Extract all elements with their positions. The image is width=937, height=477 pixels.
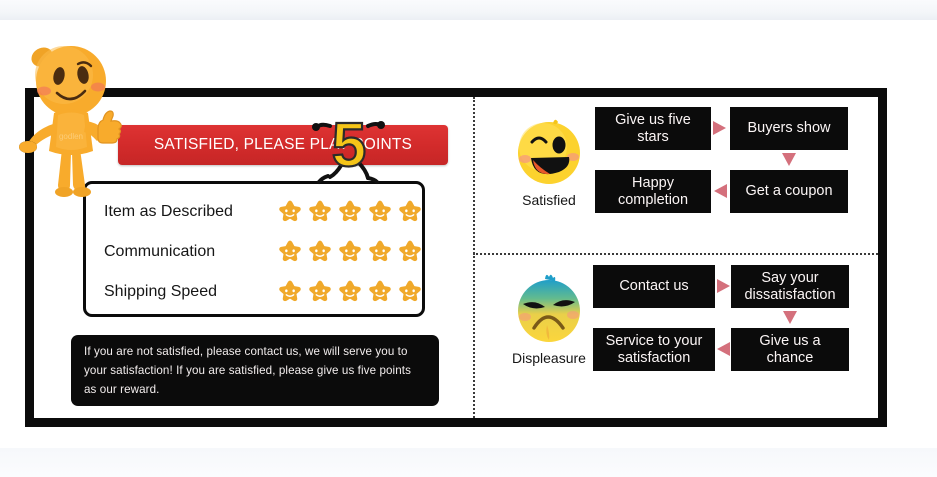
svg-text:godlen: godlen (59, 132, 83, 141)
feedback-note-box: If you are not satisfied, please contact… (71, 335, 439, 406)
smiling-star-icon (277, 239, 303, 265)
flow-step-box[interactable]: Service to your satisfaction (593, 328, 715, 371)
running-five-icon: 5 (312, 104, 386, 186)
banner-five-number: 5 (332, 111, 366, 180)
smiling-star-icon (367, 239, 393, 265)
smiling-star-icon (307, 279, 333, 305)
page-root: godlen SATISFIED, PLEASE PLAY POINTS 5 (0, 0, 937, 477)
arrow-left-icon (717, 342, 730, 356)
smiling-star-icon (367, 199, 393, 225)
displeasure-flow: Displeasure Contact us Say your dissatis… (473, 255, 878, 411)
displeasure-caption: Displeasure (505, 350, 593, 366)
top-background-band (0, 0, 937, 20)
rating-label: Shipping Speed (104, 283, 217, 301)
smiling-star-icon (397, 199, 423, 225)
flow-step-box[interactable]: Happy completion (595, 170, 711, 213)
rating-stars (277, 279, 423, 305)
smiling-star-icon (397, 239, 423, 265)
flow-step-box[interactable]: Give us five stars (595, 107, 711, 150)
thumbs-up-mascot-icon: godlen (12, 35, 140, 215)
angry-frowning-face-icon (512, 273, 586, 347)
rating-row: Shipping Speed (86, 272, 422, 312)
smiling-star-icon (337, 239, 363, 265)
smiling-star-icon (337, 279, 363, 305)
left-panel: godlen SATISFIED, PLEASE PLAY POINTS 5 (34, 97, 473, 418)
rating-label: Communication (104, 243, 215, 261)
smiling-star-icon (337, 199, 363, 225)
banner-label: SATISFIED, PLEASE PLAY POINTS (118, 125, 448, 165)
flow-step-box[interactable]: Say your dissatisfaction (731, 265, 849, 308)
bottom-background-band (0, 448, 937, 477)
feedback-note-text: If you are not satisfied, please contact… (84, 342, 426, 399)
winking-smiling-face-icon (512, 115, 586, 189)
rating-stars (277, 199, 423, 225)
flow-step-box[interactable]: Buyers show (730, 107, 848, 150)
flow-step-box[interactable]: Contact us (593, 265, 715, 308)
smiling-star-icon (307, 239, 333, 265)
satisfied-emoji-group: Satisfied (505, 115, 593, 208)
arrow-down-icon (783, 311, 797, 324)
rating-stars (277, 239, 423, 265)
arrow-down-icon (782, 153, 796, 166)
displeasure-emoji-group: Displeasure (505, 273, 593, 366)
smiling-star-icon (367, 279, 393, 305)
flow-step-box[interactable]: Give us a chance (731, 328, 849, 371)
smiling-star-icon (397, 279, 423, 305)
rating-row: Communication (86, 232, 422, 272)
right-panel: Satisfied Give us five stars Buyers show… (473, 97, 878, 418)
smiling-star-icon (277, 199, 303, 225)
arrow-right-icon (713, 121, 726, 135)
arrow-right-icon (717, 279, 730, 293)
flow-step-box[interactable]: Get a coupon (730, 170, 848, 213)
satisfied-caption: Satisfied (505, 192, 593, 208)
arrow-left-icon (714, 184, 727, 198)
feedback-banner-card: godlen SATISFIED, PLEASE PLAY POINTS 5 (25, 88, 887, 427)
smiling-star-icon (307, 199, 333, 225)
satisfied-play-banner: SATISFIED, PLEASE PLAY POINTS (118, 125, 448, 165)
smiling-star-icon (277, 279, 303, 305)
satisfied-flow: Satisfied Give us five stars Buyers show… (473, 97, 878, 253)
